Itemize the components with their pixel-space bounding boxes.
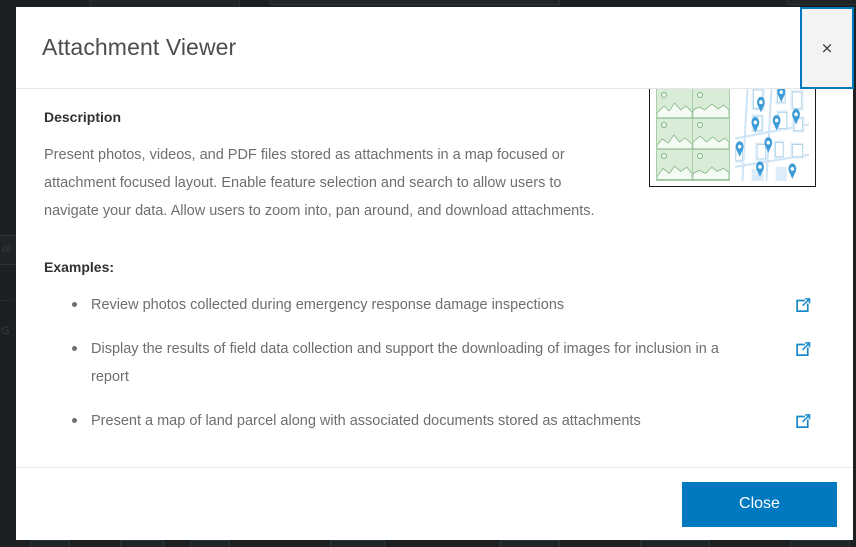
attachment-card-gallery-graphic [656,89,730,181]
backdrop-shape [190,540,230,547]
modal-footer: Close [16,467,853,540]
example-text: Present a map of land parcel along with … [91,407,641,435]
photo-card-dot [661,92,667,98]
attachment-viewer-preview-thumbnail [649,89,816,187]
backdrop-shape [330,540,385,547]
attachment-viewer-modal: Attachment Viewer × Description Present … [16,7,853,540]
photo-card-dot [661,122,667,128]
photo-card-dot [697,122,703,128]
photo-card-thumb [693,150,729,180]
bullet-icon [72,302,77,307]
list-item: Present a map of land parcel along with … [44,407,825,435]
example-text: Review photos collected during emergency… [91,291,564,319]
external-link-icon[interactable] [795,296,812,313]
backdrop-shape: G [1,325,10,337]
backdrop-shape: ol [2,243,11,255]
photo-card-dot [661,153,667,159]
backdrop-shape [640,540,710,547]
example-text: Display the results of field data collec… [91,335,734,391]
photo-card-thumb [693,119,729,149]
backdrop-shape [500,540,560,547]
external-link-icon[interactable] [795,340,812,357]
backdrop-shape [790,540,850,547]
map-with-attachment-pins-graphic [735,89,809,181]
examples-heading: Examples: [44,259,825,275]
description-heading: Description [44,109,649,125]
modal-body: Description Present photos, videos, and … [16,89,853,467]
description-text: Present photos, videos, and PDF files st… [44,141,604,225]
list-item: Display the results of field data collec… [44,335,825,391]
photo-card-thumb [657,89,693,119]
photo-card-dot [697,92,703,98]
photo-card-thumb [657,119,693,149]
backdrop-shape [120,540,164,547]
external-link-icon[interactable] [795,412,812,429]
page-title: Attachment Viewer [16,34,236,62]
bullet-icon [72,346,77,351]
photo-card-thumb [693,89,729,119]
backdrop-shape [270,0,560,5]
close-button[interactable]: Close [682,482,837,527]
backdrop-shape [0,300,14,301]
examples-section: Examples: Review photos collected during… [44,259,825,435]
backdrop-shape [787,0,856,5]
examples-list: Review photos collected during emergency… [44,291,825,435]
close-icon[interactable]: × [800,7,854,89]
modal-header: Attachment Viewer × [16,7,853,89]
photo-card-dot [697,153,703,159]
bullet-icon [72,418,77,423]
backdrop-shape [30,540,70,547]
photo-card-thumb [657,150,693,180]
list-item: Review photos collected during emergency… [44,291,825,319]
description-section: Description Present photos, videos, and … [44,109,825,225]
